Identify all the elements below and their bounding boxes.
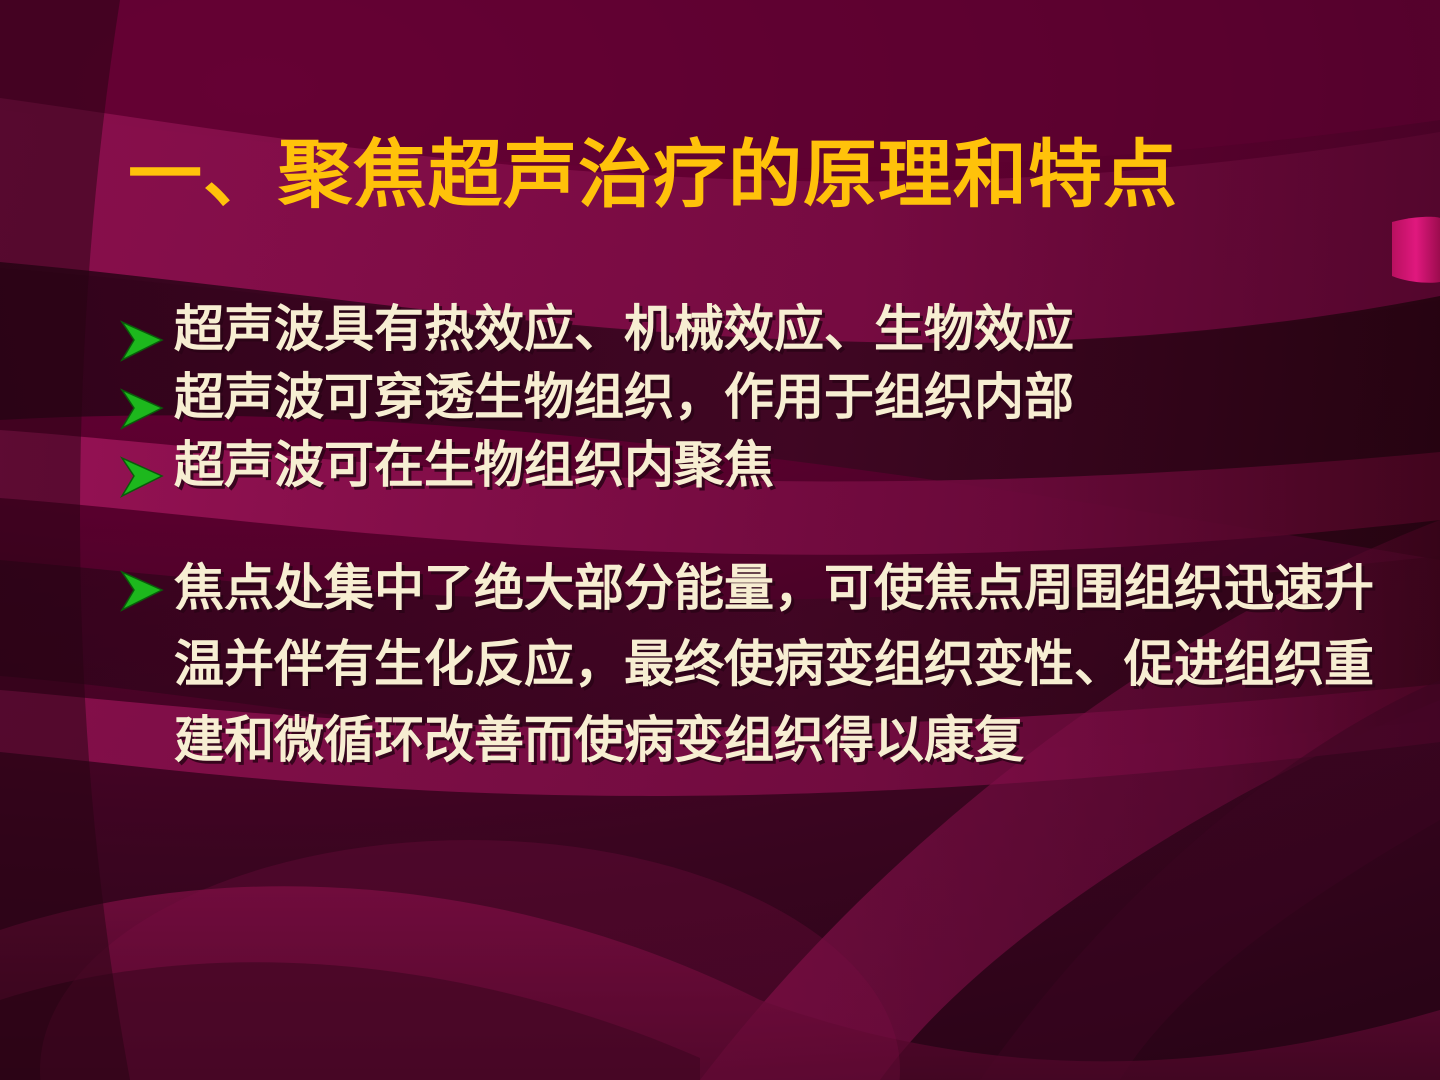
list-item-label: 焦点处集中了绝大部分能量，可使焦点周围组织迅速升温并伴有生化反应，最终使病变组织… xyxy=(174,550,1378,778)
green-arrow-bullet-icon xyxy=(118,550,174,616)
slide-body: 超声波具有热效应、机械效应、生物效应 超声波可穿透生物组织，作用于组织内部 超声… xyxy=(118,300,1378,778)
green-arrow-bullet-icon xyxy=(118,300,174,366)
green-arrow-bullet-icon xyxy=(118,436,174,502)
list-item-label: 超声波具有热效应、机械效应、生物效应 xyxy=(174,300,1378,359)
list-item: 超声波可在生物组织内聚焦 xyxy=(118,436,1378,502)
list-item: 超声波具有热效应、机械效应、生物效应 xyxy=(118,300,1378,366)
list-item-label: 超声波可在生物组织内聚焦 xyxy=(174,436,1378,495)
slide-title: 一、聚焦超声治疗的原理和特点 xyxy=(128,136,1358,216)
list-item: 超声波可穿透生物组织，作用于组织内部 xyxy=(118,368,1378,434)
green-arrow-bullet-icon xyxy=(118,368,174,434)
presentation-slide: 一、聚焦超声治疗的原理和特点 超声波具有热效应、机械效应、生物效应 超声波可穿透… xyxy=(0,0,1440,1080)
list-item-label: 超声波可穿透生物组织，作用于组织内部 xyxy=(174,368,1378,427)
list-item: 焦点处集中了绝大部分能量，可使焦点周围组织迅速升温并伴有生化反应，最终使病变组织… xyxy=(118,550,1378,778)
